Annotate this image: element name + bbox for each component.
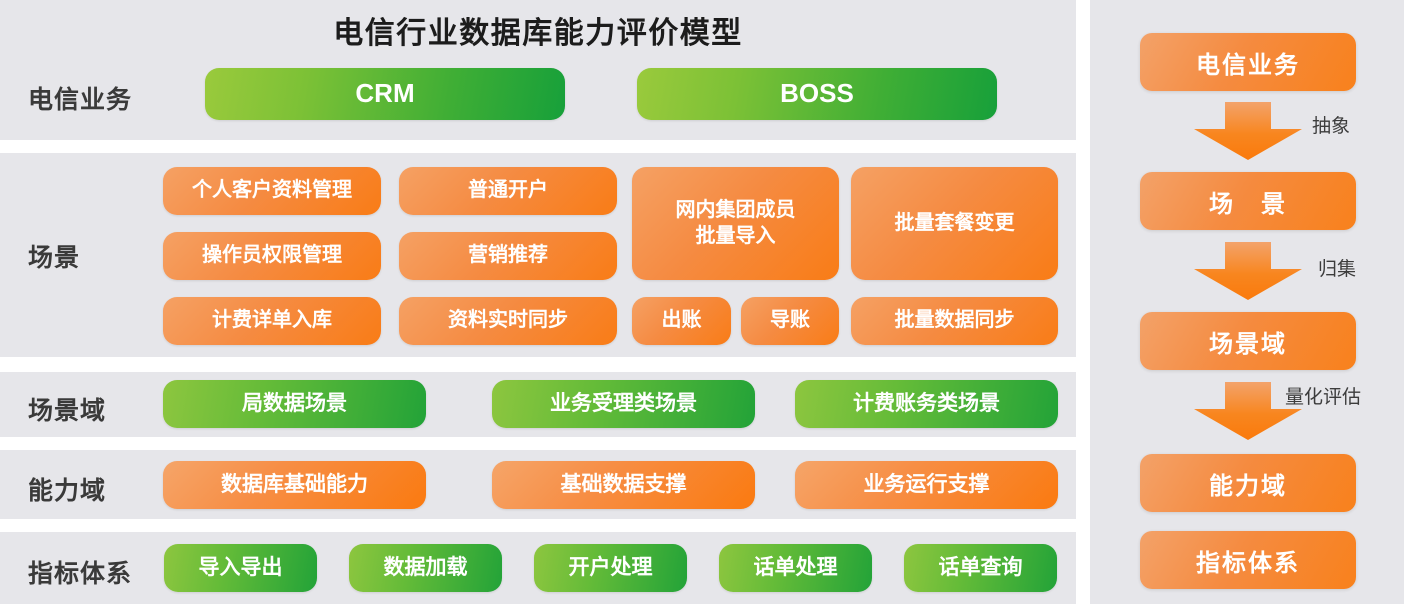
scene-box-operator-permission[interactable]: 操作员权限管理 <box>163 232 381 280</box>
row-indicator-system: 指标体系 导入导出 数据加载 开户处理 话单处理 话单查询 <box>0 532 1076 604</box>
indicator-box-account-open-process[interactable]: 开户处理 <box>534 544 687 592</box>
indicator-box-cdr-query[interactable]: 话单查询 <box>904 544 1057 592</box>
scene-box-batch-data-sync[interactable]: 批量数据同步 <box>851 297 1058 345</box>
row-telecom-business: 电信行业数据库能力评价模型 电信业务 CRM BOSS <box>0 0 1076 140</box>
scene-box-billing-detail-load[interactable]: 计费详单入库 <box>163 297 381 345</box>
row-scene: 场景 个人客户资料管理 操作员权限管理 计费详单入库 普通开户 营销推荐 资料实… <box>0 153 1076 357</box>
row-label-scene: 场景 <box>28 238 80 274</box>
row-label-scene-domain: 场景域 <box>28 391 106 427</box>
abstraction-flow-panel: 电信业务 抽象 场 景 <box>1090 0 1404 604</box>
scene-box-billing-out[interactable]: 出账 <box>632 297 731 345</box>
scene-box-normal-account-open[interactable]: 普通开户 <box>399 167 617 215</box>
indicator-box-data-load[interactable]: 数据加载 <box>349 544 502 592</box>
capability-model-panel: 电信行业数据库能力评价模型 电信业务 CRM BOSS 场景 个人客户资料管理 … <box>0 0 1076 604</box>
scene-domain-box-bureau-data[interactable]: 局数据场景 <box>163 380 426 428</box>
scene-domain-box-billing-account[interactable]: 计费账务类场景 <box>795 380 1058 428</box>
model-diagram: 电信行业数据库能力评价模型 电信业务 CRM BOSS 场景 个人客户资料管理 … <box>0 0 1404 604</box>
flow-box-telecom-business[interactable]: 电信业务 <box>1140 33 1356 91</box>
scene-domain-box-business-handling[interactable]: 业务受理类场景 <box>492 380 755 428</box>
scene-box-marketing-recommend[interactable]: 营销推荐 <box>399 232 617 280</box>
capability-box-business-runtime-support[interactable]: 业务运行支撑 <box>795 461 1058 509</box>
flow-box-indicator-system[interactable]: 指标体系 <box>1140 531 1356 589</box>
page-title: 电信行业数据库能力评价模型 <box>0 8 1076 52</box>
row-capability-domain: 能力域 数据库基础能力 基础数据支撑 业务运行支撑 <box>0 450 1076 519</box>
capability-box-db-foundation[interactable]: 数据库基础能力 <box>163 461 426 509</box>
business-box-boss[interactable]: BOSS <box>637 68 997 120</box>
row-scene-domain: 场景域 局数据场景 业务受理类场景 计费账务类场景 <box>0 372 1076 437</box>
scene-box-batch-package-change[interactable]: 批量套餐变更 <box>851 167 1058 280</box>
indicator-box-cdr-process[interactable]: 话单处理 <box>719 544 872 592</box>
scene-box-realtime-data-sync[interactable]: 资料实时同步 <box>399 297 617 345</box>
down-arrow-icon-aggregate <box>1192 242 1304 300</box>
flow-box-capability-domain[interactable]: 能力域 <box>1140 454 1356 512</box>
row-label-capability-domain: 能力域 <box>28 471 106 507</box>
flow-box-scene[interactable]: 场 景 <box>1140 172 1356 230</box>
scene-box-billing-export[interactable]: 导账 <box>741 297 839 345</box>
row-label-telecom-business: 电信业务 <box>28 80 132 116</box>
flow-arrow-label-aggregate: 归集 <box>1318 254 1356 281</box>
scene-box-personal-customer-profile[interactable]: 个人客户资料管理 <box>163 167 381 215</box>
scene-box-group-member-batch-import[interactable]: 网内集团成员 批量导入 <box>632 167 839 280</box>
row-label-indicator-system: 指标体系 <box>28 554 132 590</box>
capability-box-base-data-support[interactable]: 基础数据支撑 <box>492 461 755 509</box>
business-box-crm[interactable]: CRM <box>205 68 565 120</box>
indicator-box-import-export[interactable]: 导入导出 <box>164 544 317 592</box>
flow-arrow-label-abstract: 抽象 <box>1312 111 1350 138</box>
down-arrow-icon-abstract <box>1192 102 1304 160</box>
flow-arrow-label-quantitative-evaluation: 量化评估 <box>1285 382 1361 409</box>
flow-box-scene-domain[interactable]: 场景域 <box>1140 312 1356 370</box>
